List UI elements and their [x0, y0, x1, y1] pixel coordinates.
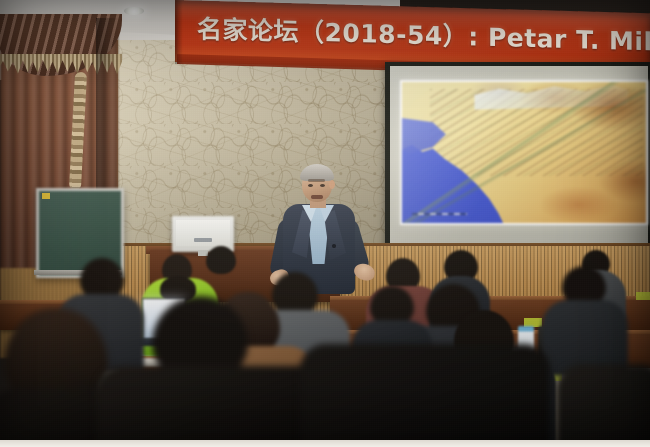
attendee-head — [206, 246, 236, 274]
professor-eye-right — [320, 184, 325, 187]
ceiling-downlight-left — [124, 7, 144, 15]
professor-eye-left — [308, 184, 313, 187]
foreground-body — [300, 344, 550, 447]
banner-left-edge-shadow — [175, 0, 183, 64]
foreground-blur-far-right — [556, 364, 650, 447]
foreground-blur-right — [300, 332, 550, 447]
podium-monitor-logo — [194, 238, 212, 242]
professor-brow — [308, 179, 325, 182]
podium-monitor-screen — [176, 220, 230, 246]
photo-bottom-border — [0, 440, 650, 447]
professor-jacket-button — [332, 244, 336, 248]
attendee-far-head-a — [206, 246, 240, 290]
bench-accent-right — [636, 292, 650, 300]
slide-white-border — [400, 80, 648, 225]
professor-ear — [329, 180, 335, 189]
foreground-blur-center — [96, 296, 326, 447]
lecture-hall-photo: 名家论坛（2018-54）: Petar T. Milanovic 教授学术报告… — [0, 0, 650, 447]
professor-mouth — [311, 195, 323, 199]
foreground-body — [556, 364, 650, 447]
foreground-body — [96, 366, 326, 447]
projected-slide-relief-map — [400, 80, 648, 225]
chalkboard-sticker — [42, 193, 50, 199]
